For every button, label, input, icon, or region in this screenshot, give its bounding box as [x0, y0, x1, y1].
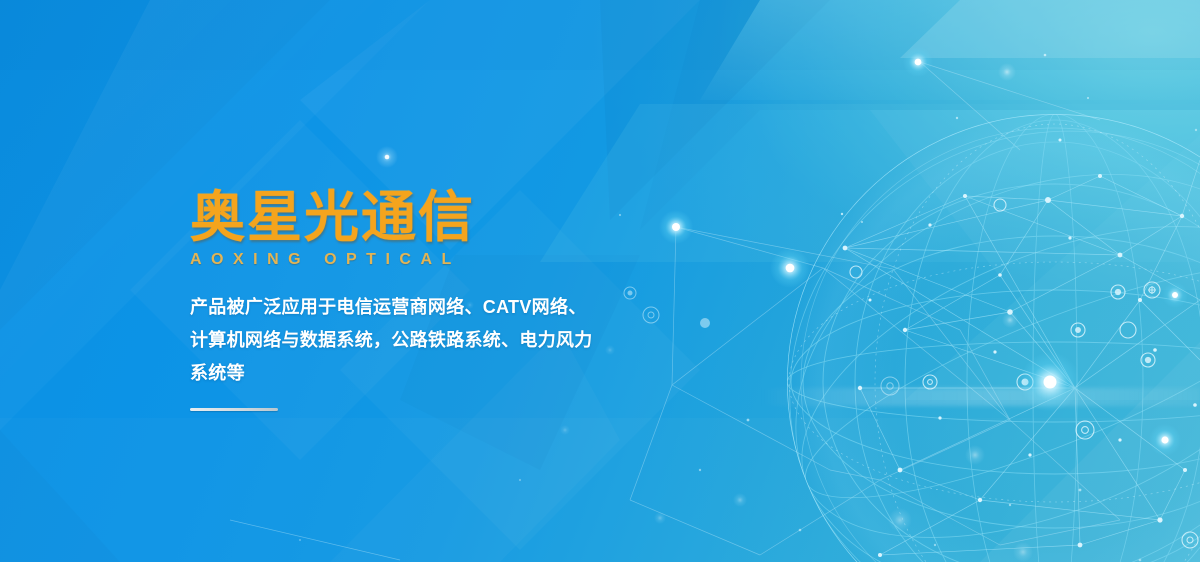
brand-subtitle: AOXING OPTICAL — [190, 251, 620, 269]
brand-title: 奥星光通信 — [190, 186, 620, 248]
hero-copy-block: 奥星光通信 AOXING OPTICAL 产品被广泛应用于电信运营商网络、CAT… — [190, 186, 620, 411]
hero-banner: 奥星光通信 AOXING OPTICAL 产品被广泛应用于电信运营商网络、CAT… — [0, 0, 1200, 562]
brand-description: 产品被广泛应用于电信运营商网络、CATV网络、计算机网络与数据系统，公路铁路系统… — [190, 291, 598, 390]
divider-rule — [190, 408, 278, 411]
horizontal-light-sweep — [760, 388, 1200, 406]
